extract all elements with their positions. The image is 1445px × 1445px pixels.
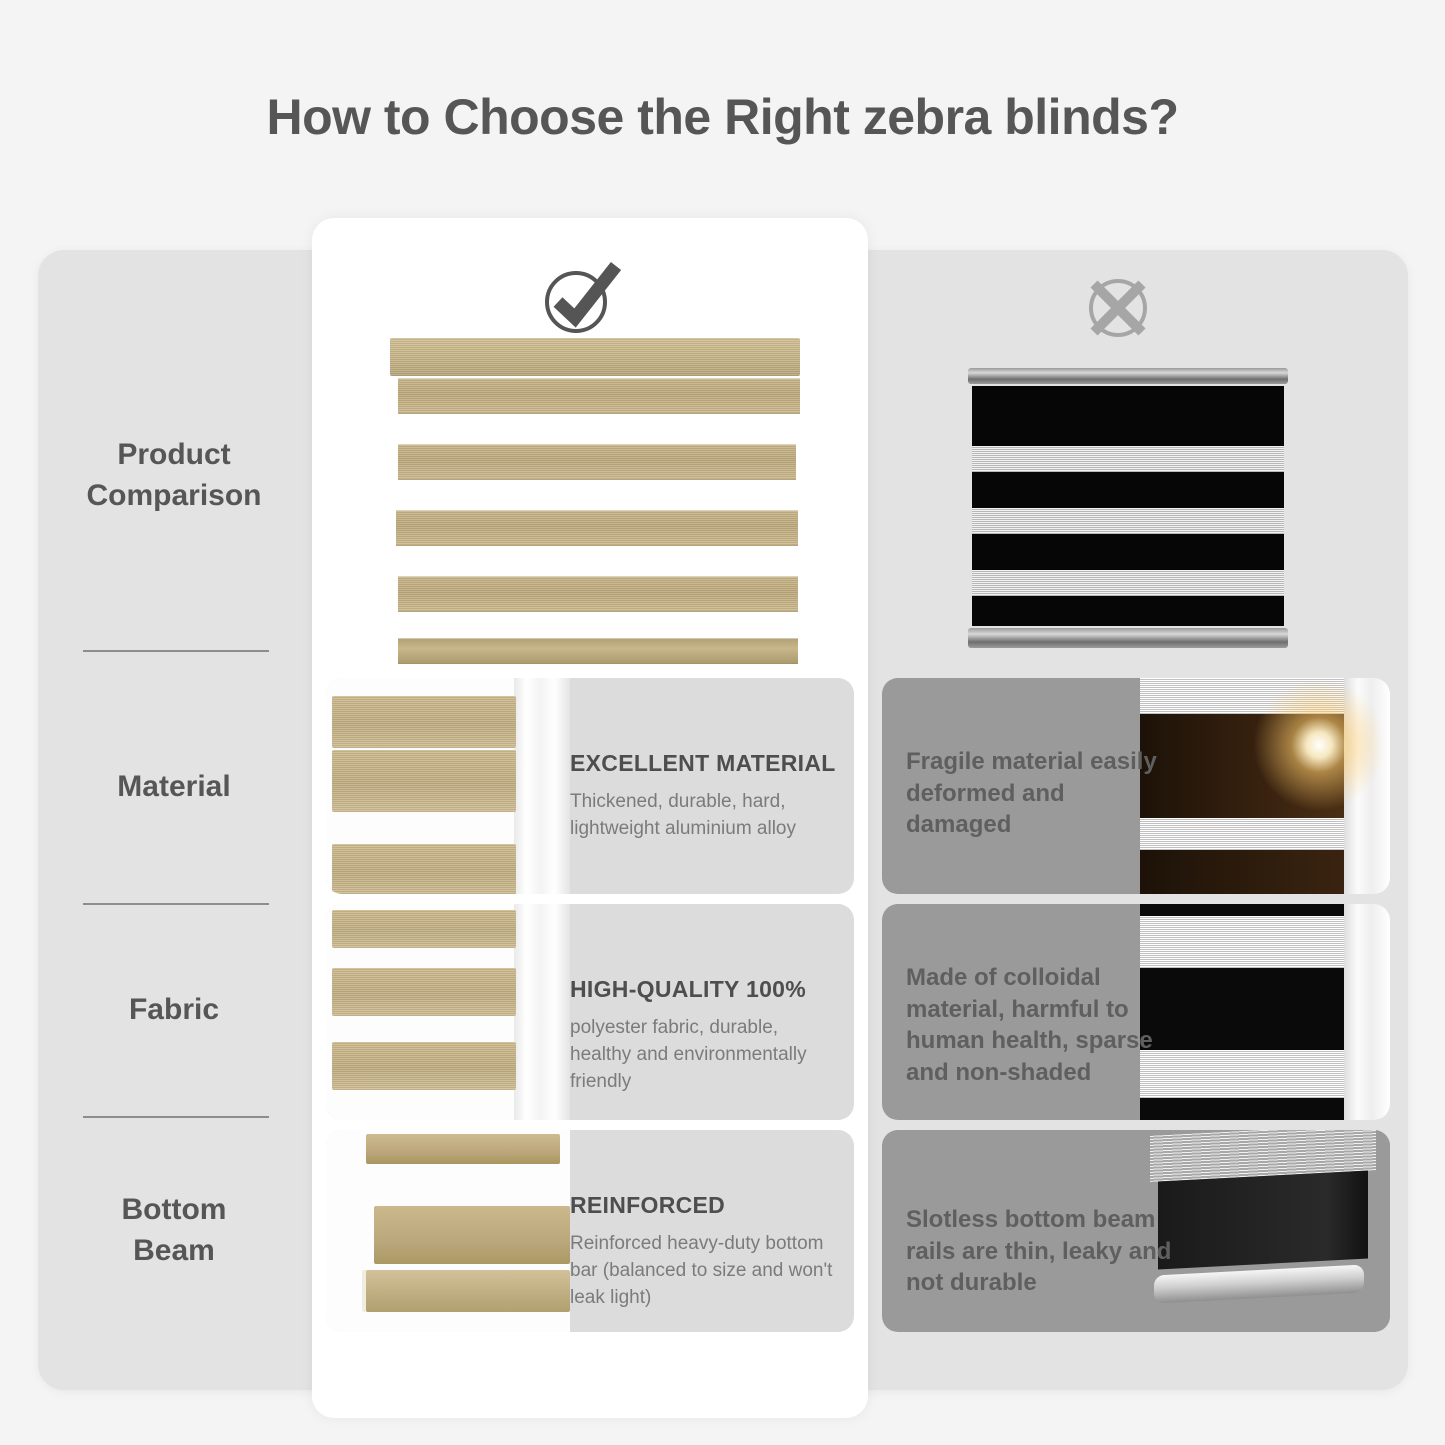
row-label-fabric: Fabric xyxy=(38,990,310,1031)
blind-slat xyxy=(398,576,798,612)
good-bottom-beam-image xyxy=(326,1130,570,1332)
row-label-line2: Comparison xyxy=(86,479,261,512)
row-label-line2: Beam xyxy=(133,1234,215,1267)
card-heading: Made of colloidal material, harmful to h… xyxy=(906,962,1174,1089)
row-label-product-comparison: Product Comparison xyxy=(38,435,310,517)
window-frame xyxy=(1344,904,1390,1120)
card-body: polyester fabric, durable, healthy and e… xyxy=(570,1015,838,1096)
bad-bottom-beam-card: Slotless bottom beam rails are thin, lea… xyxy=(882,1130,1390,1332)
card-body: Reinforced heavy-duty bottom bar (balanc… xyxy=(570,1231,838,1312)
card-heading: REINFORCED xyxy=(570,1192,838,1219)
blind-bottom-bar xyxy=(398,638,798,664)
infographic-page: How to Choose the Right zebra blinds? Pr… xyxy=(0,0,1445,1445)
good-card-fabric: HIGH-QUALITY 100% polyester fabric, dura… xyxy=(326,904,854,1120)
row-divider xyxy=(83,650,269,652)
blind-sheer-stripe xyxy=(972,446,1284,472)
check-circle-icon xyxy=(538,254,624,340)
good-bottom-beam-text: REINFORCED Reinforced heavy-duty bottom … xyxy=(570,1192,838,1312)
blind-bottom-rail xyxy=(968,628,1288,648)
row-label-line1: Product xyxy=(117,438,230,471)
good-material-text: EXCELLENT MATERIAL Thickened, durable, h… xyxy=(570,750,838,843)
blind-sheer-stripe xyxy=(972,508,1284,534)
window-frame xyxy=(514,678,570,894)
row-label-column: Product Comparison Material Fabric Botto… xyxy=(38,250,310,1390)
bad-material-text: Fragile material easily deformed and dam… xyxy=(906,746,1174,841)
card-heading: EXCELLENT MATERIAL xyxy=(570,750,838,777)
card-body: Thickened, durable, hard, lightweight al… xyxy=(570,789,838,843)
good-bottom-beam-card: REINFORCED Reinforced heavy-duty bottom … xyxy=(326,1130,854,1332)
card-heading: HIGH-QUALITY 100% xyxy=(570,976,838,1003)
bad-card-fabric: Made of colloidal material, harmful to h… xyxy=(882,904,1390,1120)
row-label-line1: Bottom xyxy=(122,1193,227,1226)
blind-slat xyxy=(396,510,798,546)
good-fabric-image xyxy=(326,904,570,1120)
row-label-bottom-beam: Bottom Beam xyxy=(38,1190,310,1272)
row-divider xyxy=(83,903,269,905)
card-heading: Fragile material easily deformed and dam… xyxy=(906,746,1174,841)
blind-slat xyxy=(398,444,796,480)
bad-fabric-image xyxy=(1140,904,1390,1120)
bad-product-hero-image xyxy=(968,368,1288,648)
good-card-material: EXCELLENT MATERIAL Thickened, durable, h… xyxy=(326,678,854,894)
blind-headrail xyxy=(968,368,1288,384)
good-product-hero-image xyxy=(390,338,800,668)
page-title: How to Choose the Right zebra blinds? xyxy=(0,88,1445,146)
blind-sheer-stripe xyxy=(972,570,1284,596)
bad-bottom-beam-image xyxy=(1140,1130,1390,1332)
blind-fabric xyxy=(972,386,1284,626)
row-label-material: Material xyxy=(38,767,310,808)
blind-slat xyxy=(398,378,800,414)
bad-card-material: Fragile material easily deformed and dam… xyxy=(882,678,1390,894)
sun-flare xyxy=(1244,678,1390,820)
cross-circle-icon xyxy=(1080,270,1156,346)
row-divider xyxy=(83,1116,269,1118)
bad-material-image xyxy=(1140,678,1390,894)
window-frame xyxy=(514,904,570,1120)
bad-fabric-text: Made of colloidal material, harmful to h… xyxy=(906,962,1174,1089)
good-fabric-text: HIGH-QUALITY 100% polyester fabric, dura… xyxy=(570,976,838,1096)
good-material-image xyxy=(326,678,570,894)
blind-headrail xyxy=(390,338,800,376)
bad-bottom-beam-text: Slotless bottom beam rails are thin, lea… xyxy=(906,1204,1174,1299)
card-heading: Slotless bottom beam rails are thin, lea… xyxy=(906,1204,1174,1299)
